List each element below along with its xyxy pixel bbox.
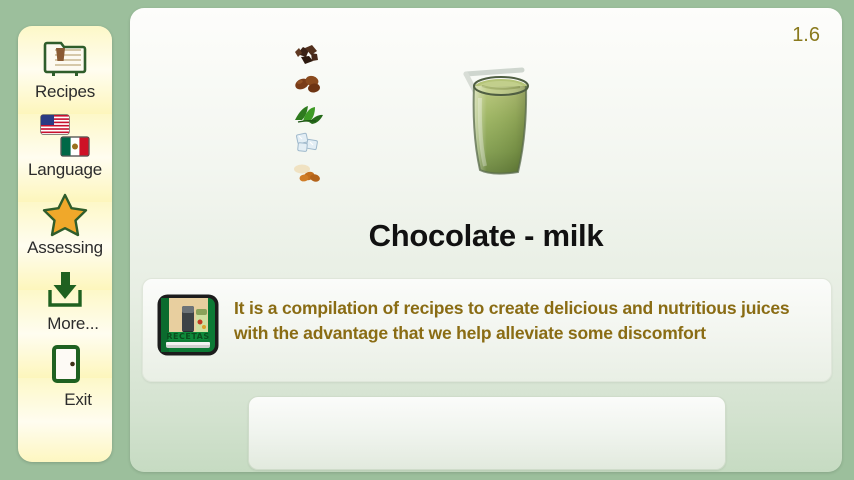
sidebar-item-language[interactable]: Language [18,110,112,180]
sidebar-item-label: Language [28,160,102,180]
sidebar-item-more[interactable]: More... [18,264,112,334]
sidebar: Recipes [18,26,112,462]
star-icon [41,190,89,238]
page-title: Chocolate - milk [130,218,842,254]
ingredient-list [285,40,331,186]
spinach-leaves-icon [291,100,325,126]
flags-icon [37,112,93,160]
nuts-icon [291,160,325,186]
door-icon [43,342,87,390]
download-icon [42,266,88,314]
sidebar-item-label: Recipes [35,82,95,102]
bottom-content-panel[interactable] [248,396,726,470]
sidebar-item-label: More... [31,314,99,334]
green-smoothie-glass-image [450,64,560,184]
sidebar-item-recipes[interactable]: Recipes [18,32,112,102]
sidebar-item-exit[interactable]: Exit [18,340,112,410]
sidebar-item-assessing[interactable]: Assessing [18,188,112,258]
description-text: It is a compilation of recipes to create… [234,293,817,346]
main-panel: 1.6 [130,8,842,472]
description-card[interactable]: RECETAS It is a compilation of recipes t… [142,278,832,382]
dates-icon [291,70,325,96]
chocolate-chunks-icon [291,40,325,66]
sidebar-item-label: Exit [38,390,92,410]
recetas-app-icon: RECETAS [156,293,220,357]
svg-text:RECETAS: RECETAS [166,332,209,341]
version-label: 1.6 [792,24,820,47]
sidebar-item-label: Assessing [27,238,103,258]
ice-cubes-icon [291,130,325,156]
recipe-card-icon [43,34,87,82]
